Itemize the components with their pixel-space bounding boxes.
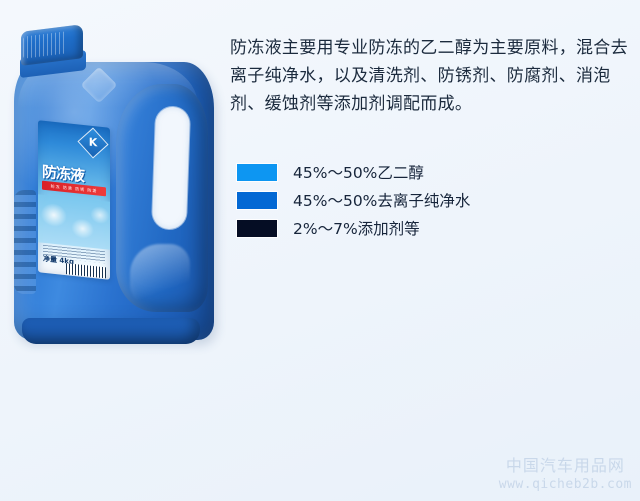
legend-label-water: 45%～50%去离子纯净水 [293, 189, 470, 211]
legend-item: 2%～7%添加剂等 [237, 214, 470, 242]
legend-item: 45%～50%去离子纯净水 [237, 186, 470, 214]
infographic-canvas: K 防冻液 防冻 防沸 防锈 防垢 净量 4kg 防冻液主要用专业防冻的乙二醇为… [0, 0, 640, 501]
description-paragraph: 防冻液主要用专业防冻的乙二醇为主要原料，混合去离子纯净水，以及清洗剂、防锈剂、防… [230, 34, 630, 118]
label-ice-graphic [38, 194, 110, 250]
legend-swatch-glycol [237, 164, 277, 181]
legend-label-additives: 2%～7%添加剂等 [293, 217, 420, 239]
legend-swatch-water [237, 192, 277, 209]
legend-item: 45%～50%乙二醇 [237, 158, 470, 186]
pie-chart: 45%～50% 45%～50% 2%～7% 冷却液（乙二醇） 去离子纯净水 添加… [0, 255, 640, 501]
label-brand-logo-icon: K [77, 127, 108, 158]
bottle-handle-cutout [152, 106, 190, 229]
label-brand-letter: K [83, 132, 103, 154]
legend-swatch-additives [237, 220, 277, 237]
legend-label-glycol: 45%～50%乙二醇 [293, 161, 424, 183]
chart-legend: 45%～50%乙二醇 45%～50%去离子纯净水 2%～7%添加剂等 [237, 158, 470, 242]
